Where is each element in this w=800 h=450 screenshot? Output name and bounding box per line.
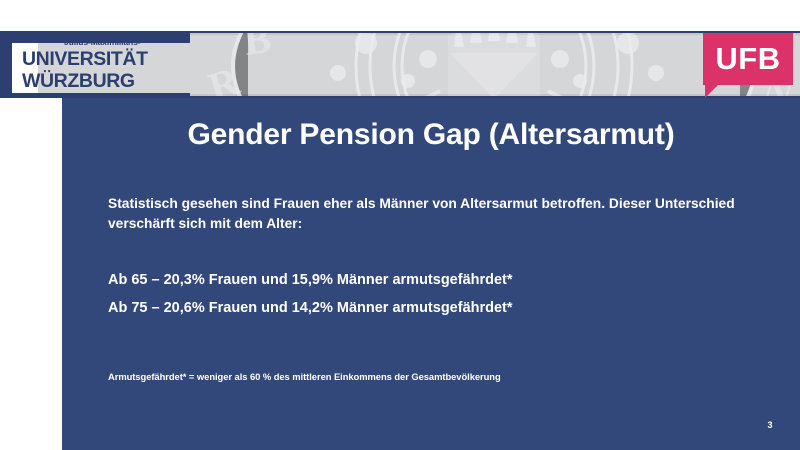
- seal-letter-b: B: [241, 33, 274, 64]
- list-item: Ab 75 – 20,6% Frauen und 14,2% Männer ar…: [108, 294, 738, 322]
- ufb-logo-speech-tail-icon: [705, 85, 718, 98]
- logo-eyebrow-text: Julius-Maximilians-: [64, 37, 141, 47]
- seal-year-right: 83: [600, 90, 646, 96]
- presentation-slide: 15 83 R B U N: [0, 0, 800, 450]
- statistics-list: Ab 65 – 20,3% Frauen und 15,9% Männer ar…: [108, 266, 738, 322]
- stat-detail-75: – 20,6% Frauen und 14,2% Männer armutsge…: [148, 300, 513, 316]
- slide-title: Gender Pension Gap (Altersarmut): [62, 118, 800, 152]
- ufb-logo-label: UFB: [703, 33, 793, 85]
- stat-detail-65: – 20,3% Frauen und 15,9% Männer armutsge…: [148, 272, 513, 288]
- header-white-strip: [0, 0, 800, 31]
- logo-line-universitaet: UNIVERSITÄT: [22, 48, 148, 70]
- slide-footnote: Armutsgefährdet* = weniger als 60 % des …: [108, 371, 738, 382]
- ufb-logo: UFB: [703, 33, 793, 85]
- logo-line-wuerzburg: WÜRZBURG: [22, 70, 135, 92]
- seal-year-left: 15: [358, 90, 404, 96]
- university-wuerzburg-logo: Julius-Maximilians- UNIVERSITÄT WÜRZBURG: [0, 31, 190, 98]
- stat-age-label-75: Ab 75: [108, 300, 148, 316]
- stat-age-label-65: Ab 65: [108, 272, 148, 288]
- left-white-margin-band: [0, 98, 62, 450]
- slide-header: 15 83 R B U N: [0, 0, 800, 98]
- list-item: Ab 65 – 20,3% Frauen und 15,9% Männer ar…: [108, 266, 738, 294]
- page-number: 3: [760, 420, 780, 430]
- slide-intro-paragraph: Statistisch gesehen sind Frauen eher als…: [108, 194, 738, 234]
